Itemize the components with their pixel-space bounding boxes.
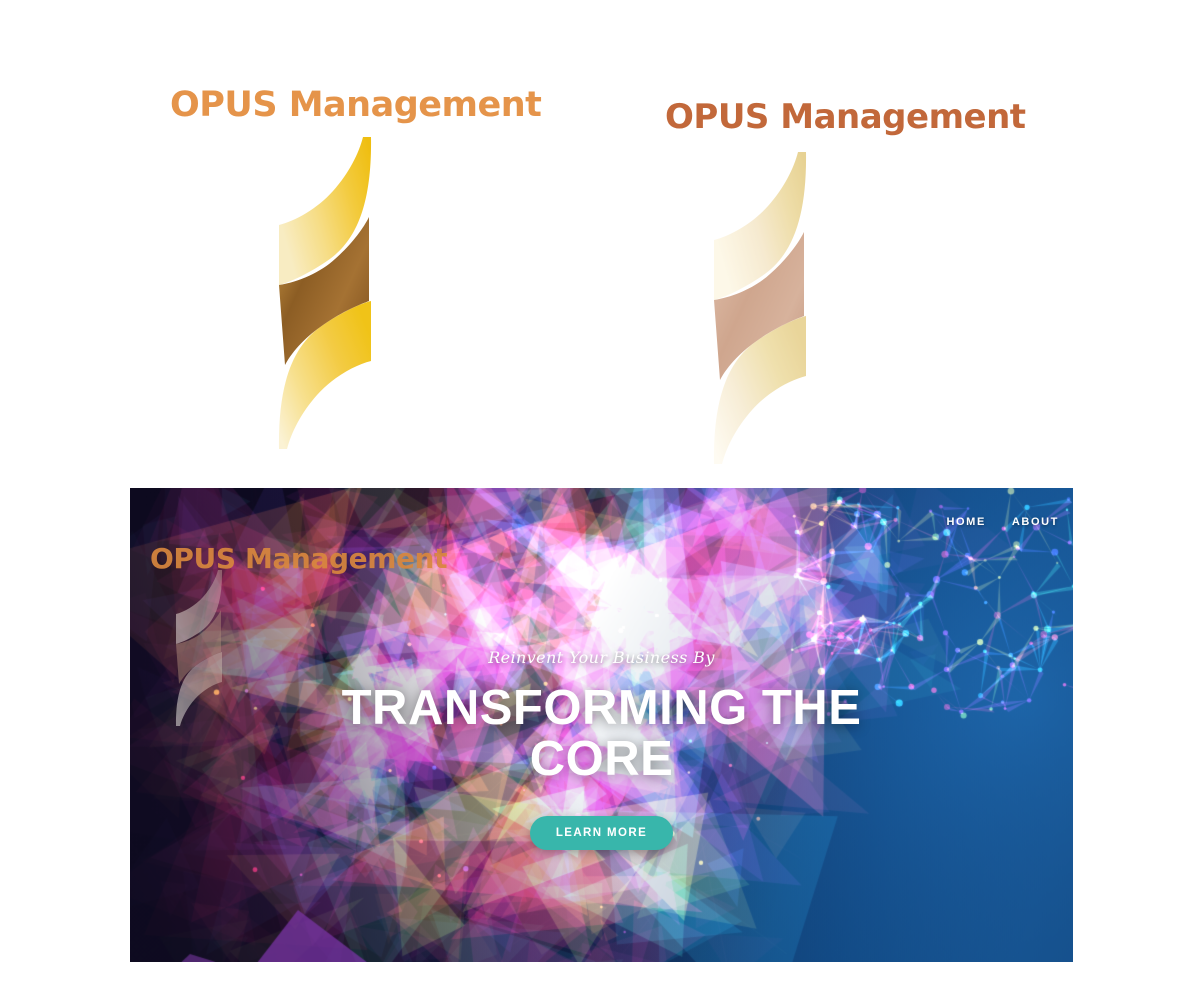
twisted-ribbon-s-icon [700, 148, 820, 468]
wordmark-primary: OPUS Management [170, 88, 510, 123]
brand-sheet-page: OPUS Management [0, 0, 1200, 1000]
ribbon-mark-secondary [700, 148, 820, 473]
twisted-ribbon-s-icon [265, 133, 385, 453]
logo-lockup-primary: OPUS Management [170, 88, 510, 448]
learn-more-button[interactable]: LEARN MORE [530, 816, 673, 850]
nav-link-home[interactable]: HOME [946, 516, 985, 528]
hero-content: Reinvent Your Business By TRANSFORMING T… [130, 648, 1073, 850]
hero-banner-mockup: OPUS Management [130, 488, 1073, 962]
logo-lockup-secondary: OPUS Management [665, 100, 1025, 450]
nav-link-about[interactable]: ABOUT [1012, 516, 1059, 528]
hero-eyebrow-text: Reinvent Your Business By [488, 648, 715, 667]
ribbon-mark-primary [265, 133, 385, 458]
wordmark-secondary: OPUS Management [665, 100, 1025, 134]
hero-navigation: HOME ABOUT [946, 516, 1059, 528]
hero-heading: TRANSFORMING THE CORE [322, 683, 882, 786]
